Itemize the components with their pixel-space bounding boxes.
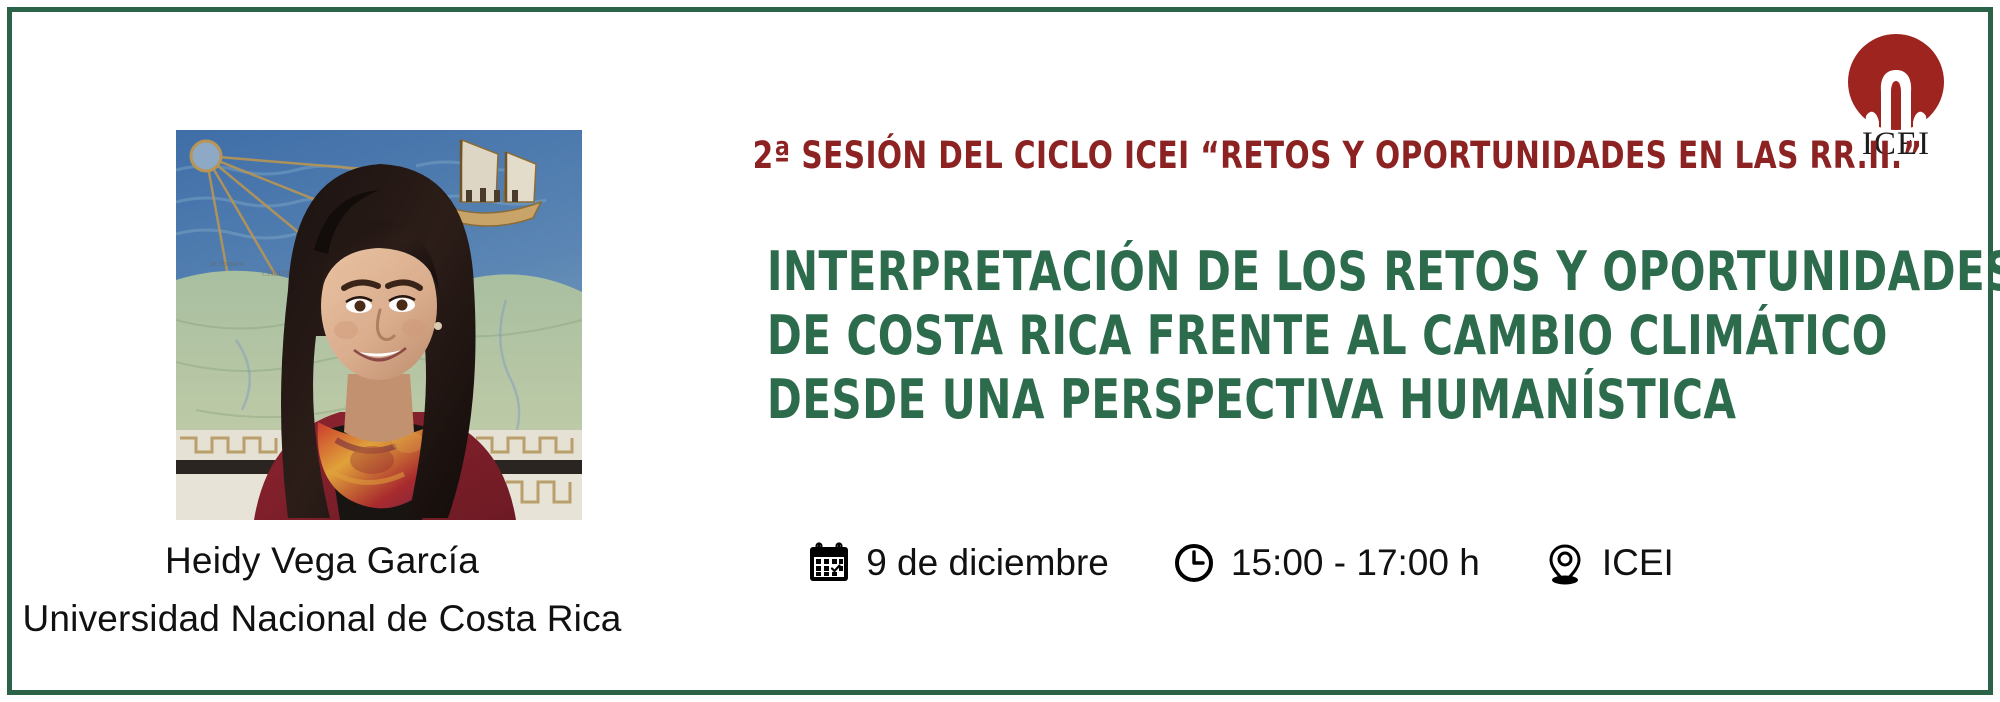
- event-details-row: 9 de diciembre 15:00 - 17:00 h: [642, 540, 1838, 586]
- event-kicker: 2ª SESIÓN DEL CICLO ICEI “RETOS Y OPORTU…: [753, 134, 1718, 177]
- event-date-label: 9 de diciembre: [866, 542, 1109, 584]
- svg-text:CHIAPA: CHIAPA: [262, 270, 291, 278]
- speaker-affiliation: Universidad Nacional de Costa Rica: [12, 598, 632, 640]
- banner-content: ICEI: [12, 12, 1988, 690]
- event-title-line-3: DESDE UNA PERSPECTIVA HUMANÍSTICA: [767, 368, 1723, 432]
- event-place: ICEI: [1542, 540, 1674, 586]
- speaker-photo-image: la Sonora CHIAPA Castilla XILAHUA: [176, 130, 582, 520]
- speaker-photo: la Sonora CHIAPA Castilla XILAHUA: [176, 130, 582, 520]
- event-title: INTERPRETACIÓN DE LOS RETOS Y OPORTUNIDA…: [632, 240, 1858, 432]
- event-place-label: ICEI: [1602, 542, 1674, 584]
- speaker-name: Heidy Vega García: [12, 540, 632, 582]
- location-pin-icon: [1542, 540, 1588, 586]
- event-time: 15:00 - 17:00 h: [1171, 540, 1480, 586]
- event-title-line-1: INTERPRETACIÓN DE LOS RETOS Y OPORTUNIDA…: [767, 240, 1723, 304]
- event-text-column: 2ª SESIÓN DEL CICLO ICEI “RETOS Y OPORTU…: [632, 12, 1988, 690]
- event-banner: ICEI: [0, 0, 2000, 702]
- svg-text:la Sonora: la Sonora: [210, 260, 244, 268]
- event-date: 9 de diciembre: [806, 540, 1109, 586]
- event-title-line-2: DE COSTA RICA FRENTE AL CAMBIO CLIMÁTICO: [767, 304, 1723, 368]
- speaker-column: la Sonora CHIAPA Castilla XILAHUA: [12, 12, 632, 690]
- clock-icon: [1171, 540, 1217, 586]
- calendar-icon: [806, 540, 852, 586]
- event-time-label: 15:00 - 17:00 h: [1231, 542, 1480, 584]
